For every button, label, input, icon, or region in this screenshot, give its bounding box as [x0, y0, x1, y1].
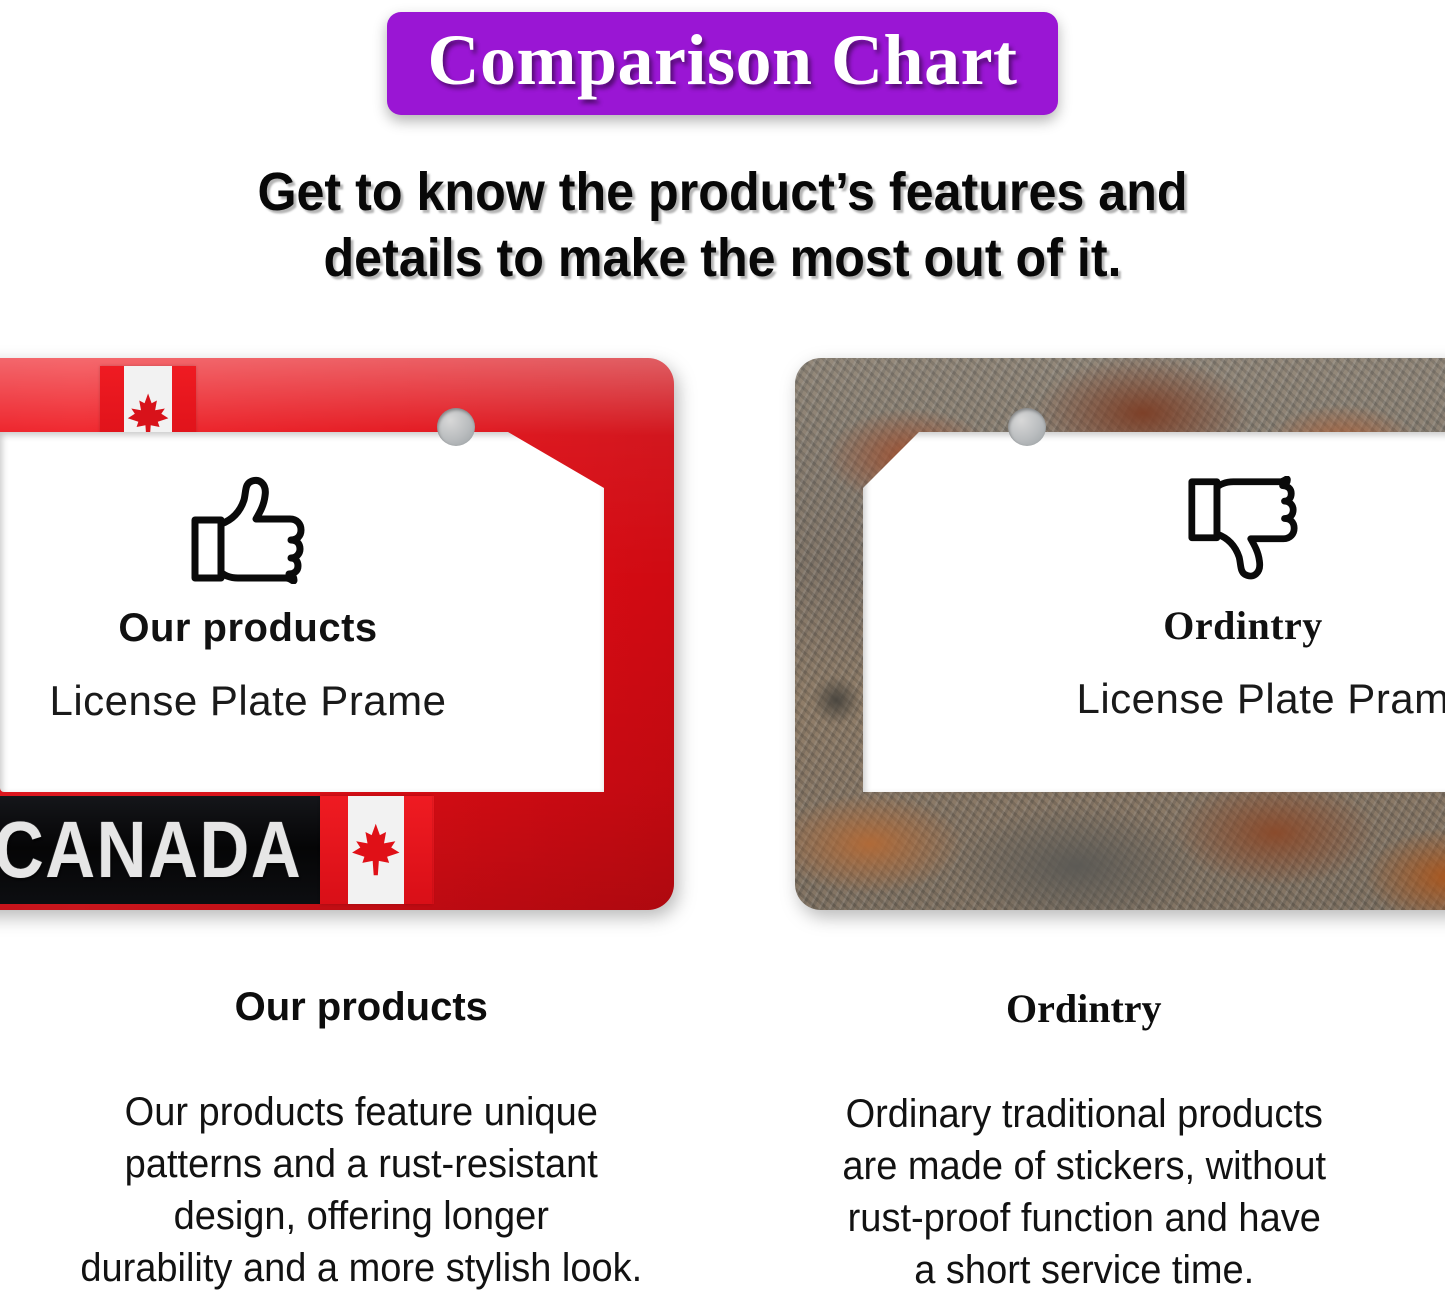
ordinary-description-line: rust-proof function and have: [765, 1192, 1402, 1244]
canada-flag-icon-bottom: [320, 796, 432, 904]
our-description-line: durability and a more stylish look.: [43, 1242, 680, 1294]
canada-plate-bar: CANADA: [0, 796, 374, 904]
subtitle-line-1: Get to know the product’s features and: [139, 160, 1306, 226]
our-description-line: patterns and a rust-resistant: [43, 1138, 680, 1190]
title-banner: Comparison Chart: [387, 12, 1057, 115]
title-banner-container: Comparison Chart: [0, 12, 1445, 115]
ordinary-frame-content: Ordintry License Plate Prame: [863, 476, 1445, 723]
ordinary-description-line: a short service time.: [765, 1244, 1402, 1296]
ordinary-product-description-column: Ordintry Ordinary traditional products a…: [723, 985, 1445, 1315]
our-description-heading: Our products: [26, 985, 697, 1030]
mounting-hole-icon: [437, 408, 475, 446]
ordinary-brand-label: Ordintry: [863, 602, 1445, 649]
ordinary-description-body: Ordinary traditional products are made o…: [765, 1088, 1402, 1296]
comparison-description-row: Our products Our products feature unique…: [0, 985, 1445, 1315]
thumbs-down-icon: [1187, 476, 1299, 580]
our-description-line: design, offering longer: [43, 1190, 680, 1242]
ordinary-description-line: are made of stickers, without: [765, 1140, 1402, 1192]
page-title: Comparison Chart: [427, 18, 1017, 103]
our-product-description-column: Our products Our products feature unique…: [0, 985, 723, 1315]
thumbs-up-icon: [190, 476, 306, 584]
mounting-hole-icon: [1008, 408, 1046, 446]
our-product-label: License Plate Prame: [0, 677, 496, 725]
our-description-body: Our products feature unique patterns and…: [43, 1086, 680, 1294]
ordinary-description-line: Ordinary traditional products: [765, 1088, 1402, 1140]
maple-leaf-icon: [350, 809, 402, 891]
our-frame-content: Our products License Plate Prame: [0, 476, 496, 725]
our-brand-label: Our products: [0, 606, 496, 651]
ordinary-product-frame: Ordintry License Plate Prame: [795, 358, 1445, 910]
subtitle-line-2: details to make the most out of it.: [139, 226, 1306, 292]
our-product-frame: Our products License Plate Prame CANADA: [0, 358, 674, 910]
canada-plate-text: CANADA: [0, 804, 302, 896]
product-frames-row: Our products License Plate Prame CANADA: [0, 358, 1445, 918]
ordinary-description-heading: Ordintry: [749, 985, 1420, 1032]
page-subtitle: Get to know the product’s features and d…: [139, 160, 1306, 292]
ordinary-product-label: License Plate Prame: [895, 675, 1445, 723]
our-description-line: Our products feature unique: [43, 1086, 680, 1138]
